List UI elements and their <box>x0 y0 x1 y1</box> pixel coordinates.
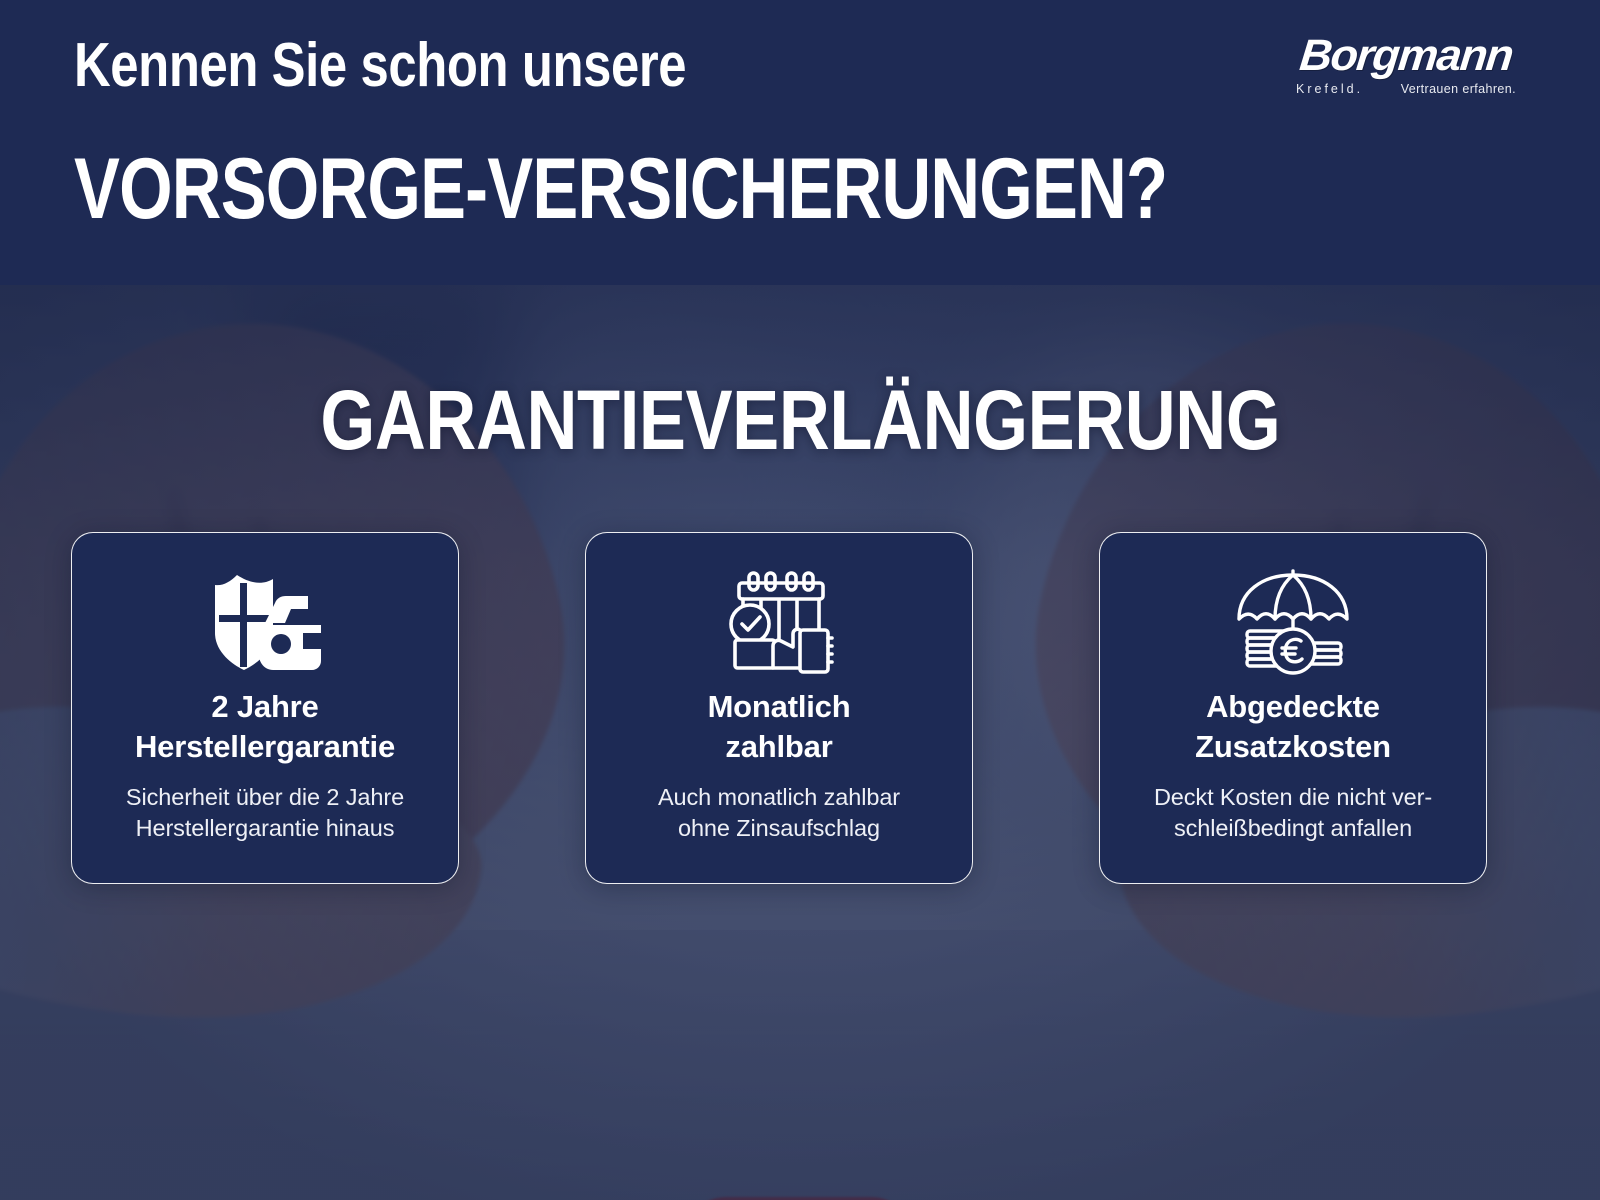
headline-line-2: VORSORGE-VERSICHERUNGEN? <box>74 140 1167 239</box>
card-description: Auch monatlich zahlbar ohne Zinsaufschla… <box>658 782 900 845</box>
logo-tagline-row: Krefeld. Vertrauen erfahren. <box>1294 82 1518 96</box>
card-title-line-1: Monatlich <box>708 689 851 724</box>
card-desc-line-2: schleißbedingt anfallen <box>1174 815 1412 841</box>
shield-car-icon <box>199 565 331 683</box>
umbrella-euro-coins-icon <box>1231 565 1355 683</box>
feature-card-list: 2 Jahre Herstellergarantie Sicherheit üb… <box>71 532 1487 884</box>
card-desc-line-2: Herstellergarantie hinaus <box>136 815 395 841</box>
card-desc-line-1: Sicherheit über die 2 Jahre <box>126 784 404 810</box>
logo-wordmark: Borgmann <box>1289 34 1522 78</box>
feature-card-monatlich-zahlbar[interactable]: Monatlich zahlbar Auch monatlich zahlbar… <box>585 532 973 884</box>
card-title: Monatlich zahlbar <box>708 687 851 768</box>
card-description: Deckt Kosten die nicht ver- schleißbedin… <box>1154 782 1432 845</box>
card-description: Sicherheit über die 2 Jahre Herstellerga… <box>126 782 404 845</box>
borgmann-logo: Borgmann Krefeld. Vertrauen erfahren. <box>1294 34 1518 96</box>
section-title-text: GARANTIEVERLÄNGERUNG <box>320 372 1280 469</box>
feature-card-zusatzkosten[interactable]: Abgedeckte Zusatzkosten Deckt Kosten die… <box>1099 532 1487 884</box>
marketing-banner: Kennen Sie schon unsere VORSORGE-VERSICH… <box>0 0 1600 1200</box>
card-title: Abgedeckte Zusatzkosten <box>1195 687 1391 768</box>
card-desc-line-2: ohne Zinsaufschlag <box>678 815 880 841</box>
feature-card-herstellergarantie[interactable]: 2 Jahre Herstellergarantie Sicherheit üb… <box>71 532 459 884</box>
card-title-line-1: Abgedeckte <box>1206 689 1380 724</box>
headline-line-1: Kennen Sie schon unsere <box>74 30 686 101</box>
card-title-line-2: Herstellergarantie <box>135 729 395 764</box>
card-desc-line-1: Auch monatlich zahlbar <box>658 784 900 810</box>
logo-city: Krefeld. <box>1296 82 1363 96</box>
card-title: 2 Jahre Herstellergarantie <box>135 687 395 768</box>
card-title-line-1: 2 Jahre <box>211 689 318 724</box>
section-title: GARANTIEVERLÄNGERUNG <box>0 372 1600 469</box>
card-desc-line-1: Deckt Kosten die nicht ver- <box>1154 784 1432 810</box>
card-title-line-2: zahlbar <box>725 729 832 764</box>
header-band: Kennen Sie schon unsere VORSORGE-VERSICH… <box>0 0 1600 285</box>
calendar-check-money-icon <box>721 565 837 683</box>
logo-slogan: Vertrauen erfahren. <box>1401 82 1516 96</box>
card-title-line-2: Zusatzkosten <box>1195 729 1391 764</box>
